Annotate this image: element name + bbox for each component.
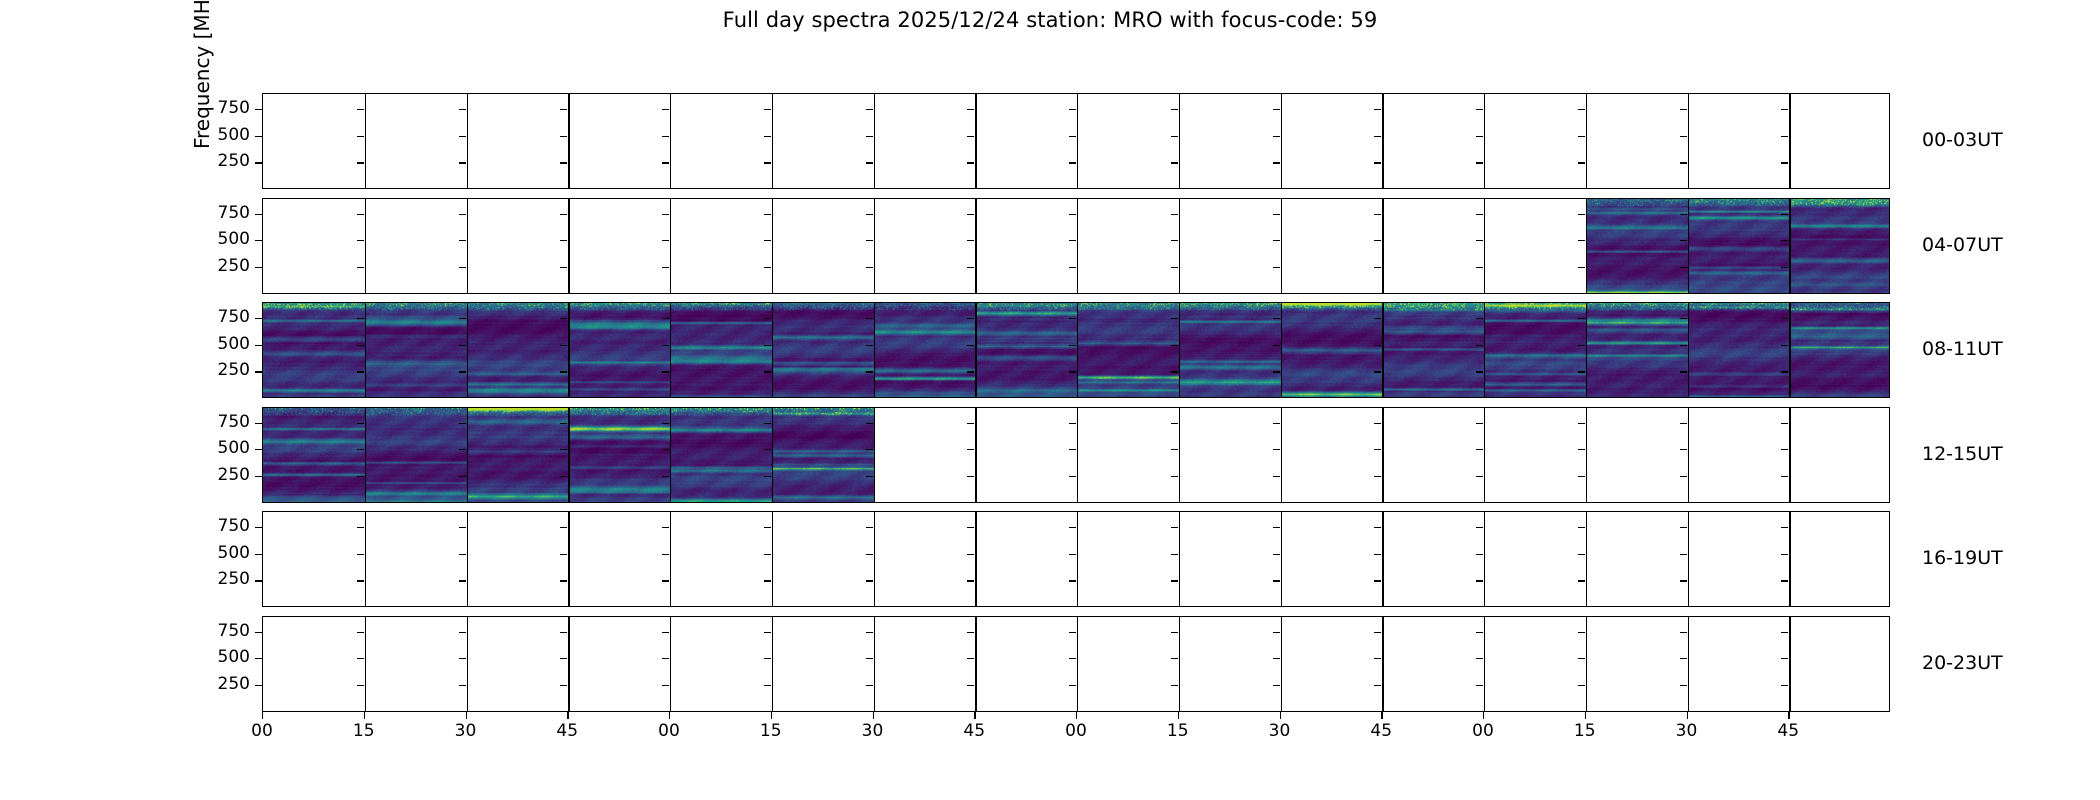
spectrogram-panel[interactable]: [670, 303, 772, 397]
spectrogram-panel[interactable]: [1281, 408, 1383, 502]
y-tick-mark-inner: [662, 345, 669, 346]
y-tick-mark-inner: [1476, 476, 1483, 477]
y-tick-mark-inner: [1069, 632, 1076, 633]
x-tick-mark: [1178, 712, 1179, 719]
spectrogram-panel[interactable]: [772, 199, 874, 293]
panel-divider: [1382, 199, 1383, 293]
y-tick-mark-inner: [1273, 109, 1280, 110]
spectrogram-panel[interactable]: [975, 512, 1077, 606]
y-tick-mark-inner: [1680, 685, 1687, 686]
spectrogram-data-tile: [263, 303, 365, 397]
panel-divider: [1586, 199, 1587, 293]
spectrogram-panel[interactable]: [975, 408, 1077, 502]
spectrogram-panel[interactable]: [467, 408, 569, 502]
y-tick-mark-inner: [866, 267, 873, 268]
y-tick-mark-inner: [1476, 240, 1483, 241]
y-tick-mark-inner: [560, 240, 567, 241]
y-tick-mark-inner: [764, 318, 771, 319]
y-tick-mark-inner: [662, 162, 669, 163]
panel-divider: [1382, 617, 1383, 711]
panel-divider: [365, 512, 366, 606]
y-tick-mark-inner: [866, 632, 873, 633]
x-tick-mark: [364, 712, 365, 719]
panel-divider: [1789, 617, 1790, 711]
spectrogram-data-tile: [1789, 199, 1890, 293]
spectrogram-row-20-23ut[interactable]: [262, 616, 1890, 712]
y-tick-mark: [255, 449, 262, 450]
spectrogram-panel[interactable]: [568, 512, 670, 606]
spectrogram-panel[interactable]: [467, 617, 569, 711]
spectrogram-panel[interactable]: [365, 512, 467, 606]
y-tick-label: 500: [170, 229, 250, 249]
x-tick-mark: [466, 712, 467, 719]
spectrogram-row-16-19ut[interactable]: [262, 511, 1890, 607]
y-tick-mark-inner: [1273, 527, 1280, 528]
spectrogram-panel[interactable]: [1179, 617, 1281, 711]
y-tick-mark-inner: [1273, 267, 1280, 268]
panel-divider: [467, 408, 468, 502]
panel-divider: [1586, 617, 1587, 711]
spectrogram-panel[interactable]: [263, 303, 365, 397]
y-tick-mark-inner: [1171, 580, 1178, 581]
panel-divider: [975, 512, 976, 606]
panel-divider: [670, 199, 671, 293]
spectrogram-panel[interactable]: [568, 199, 670, 293]
spectrogram-panel[interactable]: [874, 303, 976, 397]
spectrogram-panel[interactable]: [1688, 617, 1790, 711]
y-tick-mark-inner: [357, 136, 364, 137]
spectrogram-panel[interactable]: [1179, 94, 1281, 188]
spectrogram-panel[interactable]: [874, 408, 976, 502]
y-tick-mark: [255, 267, 262, 268]
spectrogram-data-tile: [568, 408, 670, 502]
y-tick-mark-inner: [1680, 240, 1687, 241]
row-label-00-03ut: 00-03UT: [1922, 129, 2003, 151]
y-tick-mark-inner: [1374, 658, 1381, 659]
x-tick-label: 00: [251, 721, 273, 741]
spectrogram-panel[interactable]: [874, 199, 976, 293]
spectrogram-row-08-11ut[interactable]: [262, 302, 1890, 398]
y-tick-mark-inner: [662, 214, 669, 215]
spectrogram-panel[interactable]: [975, 94, 1077, 188]
y-tick-mark-inner: [1476, 267, 1483, 268]
spectrogram-panel[interactable]: [1586, 617, 1688, 711]
spectrogram-panel[interactable]: [568, 303, 670, 397]
spectrogram-panel[interactable]: [1382, 617, 1484, 711]
y-tick-mark: [255, 240, 262, 241]
panel-divider: [568, 408, 569, 502]
panel-divider: [1077, 94, 1078, 188]
panel-divider: [975, 199, 976, 293]
spectrogram-panel[interactable]: [1789, 303, 1890, 397]
x-tick-label: 15: [1167, 721, 1189, 741]
x-tick-mark: [567, 712, 568, 719]
y-tick-mark-inner: [560, 136, 567, 137]
spectrogram-panel[interactable]: [467, 303, 569, 397]
spectrogram-panel[interactable]: [1484, 512, 1586, 606]
y-tick-mark-inner: [1374, 554, 1381, 555]
y-tick-mark-inner: [1476, 345, 1483, 346]
y-tick-mark-inner: [866, 240, 873, 241]
spectrogram-data-tile: [365, 408, 467, 502]
y-tick-label: 500: [170, 438, 250, 458]
spectrogram-panel[interactable]: [263, 94, 365, 188]
spectrogram-panel[interactable]: [670, 94, 772, 188]
panel-divider: [670, 617, 671, 711]
spectrogram-panel[interactable]: [1382, 512, 1484, 606]
spectrogram-panel[interactable]: [1281, 199, 1383, 293]
row-label-04-07ut: 04-07UT: [1922, 234, 2003, 256]
y-tick-mark-inner: [459, 267, 466, 268]
y-tick-mark: [255, 136, 262, 137]
y-tick-mark-inner: [1171, 449, 1178, 450]
y-tick-mark-inner: [1171, 267, 1178, 268]
y-tick-mark-inner: [1781, 214, 1788, 215]
y-tick-mark-inner: [560, 554, 567, 555]
spectrogram-panel[interactable]: [1281, 94, 1383, 188]
y-tick-mark-inner: [357, 658, 364, 659]
panel-divider: [772, 512, 773, 606]
x-tick-label: 30: [1269, 721, 1291, 741]
spectrogram-panel[interactable]: [1077, 94, 1179, 188]
x-tick-mark: [1788, 712, 1789, 719]
y-tick-mark-inner: [1680, 580, 1687, 581]
spectrogram-panel[interactable]: [1586, 303, 1688, 397]
y-tick-mark-inner: [357, 449, 364, 450]
y-tick-mark-inner: [1578, 449, 1585, 450]
y-tick-mark-inner: [967, 580, 974, 581]
y-tick-mark-inner: [662, 685, 669, 686]
y-tick-mark-inner: [967, 109, 974, 110]
y-tick-mark-inner: [357, 109, 364, 110]
spectrogram-panel[interactable]: [1586, 199, 1688, 293]
spectrogram-panel[interactable]: [365, 617, 467, 711]
spectrogram-panel[interactable]: [1688, 199, 1790, 293]
spectrogram-panel[interactable]: [1179, 512, 1281, 606]
panel-divider: [1688, 94, 1689, 188]
panel-strip: [263, 617, 1889, 711]
spectrogram-panel[interactable]: [263, 199, 365, 293]
y-tick-mark-inner: [764, 685, 771, 686]
y-tick-mark-inner: [662, 240, 669, 241]
spectrogram-panel[interactable]: [1077, 199, 1179, 293]
y-tick-mark-inner: [1781, 371, 1788, 372]
spectrogram-panel[interactable]: [568, 94, 670, 188]
spectrogram-panel[interactable]: [772, 617, 874, 711]
y-tick-mark-inner: [459, 527, 466, 528]
x-tick-mark: [873, 712, 874, 719]
y-tick-mark-inner: [764, 632, 771, 633]
spectrogram-panel[interactable]: [1484, 408, 1586, 502]
spectrogram-panel[interactable]: [263, 512, 365, 606]
panel-divider: [568, 199, 569, 293]
spectrogram-panel[interactable]: [874, 512, 976, 606]
spectrogram-panel[interactable]: [874, 94, 976, 188]
y-tick-mark-inner: [1781, 658, 1788, 659]
panel-divider: [1688, 512, 1689, 606]
y-tick-mark-inner: [1273, 685, 1280, 686]
y-tick-mark-inner: [1781, 423, 1788, 424]
y-tick-mark-inner: [459, 449, 466, 450]
spectrogram-data-tile: [874, 303, 976, 397]
spectrogram-panel[interactable]: [975, 199, 1077, 293]
y-tick-label: 750: [170, 203, 250, 223]
y-tick-mark-inner: [1069, 109, 1076, 110]
spectrogram-panel[interactable]: [1484, 617, 1586, 711]
y-tick-mark-inner: [866, 580, 873, 581]
spectrogram-panel[interactable]: [1789, 199, 1890, 293]
panel-divider: [1077, 408, 1078, 502]
y-tick-mark: [255, 423, 262, 424]
spectrogram-panel[interactable]: [1688, 512, 1790, 606]
y-tick-mark-inner: [560, 449, 567, 450]
spectrogram-panel[interactable]: [263, 617, 365, 711]
y-tick-mark-inner: [1476, 658, 1483, 659]
row-label-16-19ut: 16-19UT: [1922, 547, 2003, 569]
y-tick-label: 500: [170, 647, 250, 667]
spectrogram-panel[interactable]: [670, 199, 772, 293]
x-tick-mark: [1381, 712, 1382, 719]
spectrogram-panel[interactable]: [1382, 408, 1484, 502]
y-tick-mark-inner: [1680, 214, 1687, 215]
y-tick-mark-inner: [459, 554, 466, 555]
spectrogram-panel[interactable]: [365, 303, 467, 397]
y-tick-mark-inner: [1171, 658, 1178, 659]
y-tick-mark-inner: [1069, 658, 1076, 659]
x-tick-mark: [1687, 712, 1688, 719]
spectrogram-panel[interactable]: [1077, 617, 1179, 711]
panel-divider: [1586, 94, 1587, 188]
y-tick-mark-inner: [459, 109, 466, 110]
y-tick-mark-inner: [866, 685, 873, 686]
spectrogram-panel[interactable]: [1281, 512, 1383, 606]
y-tick-mark-inner: [1680, 423, 1687, 424]
spectrogram-data-tile: [1382, 303, 1484, 397]
y-tick-mark-inner: [459, 136, 466, 137]
panel-divider: [670, 512, 671, 606]
spectrogram-panel[interactable]: [1484, 199, 1586, 293]
panel-divider: [1586, 512, 1587, 606]
y-tick-mark-inner: [459, 685, 466, 686]
x-tick-label: 00: [658, 721, 680, 741]
y-tick-mark-inner: [1171, 423, 1178, 424]
y-tick-mark-inner: [866, 136, 873, 137]
y-tick-label: 250: [170, 674, 250, 694]
y-tick-mark: [255, 345, 262, 346]
y-tick-mark-inner: [1273, 449, 1280, 450]
y-tick-mark-inner: [1476, 371, 1483, 372]
panel-divider: [568, 617, 569, 711]
spectrogram-panel[interactable]: [772, 303, 874, 397]
y-tick-mark-inner: [866, 527, 873, 528]
panel-divider: [1077, 512, 1078, 606]
spectrogram-panel[interactable]: [1382, 94, 1484, 188]
x-tick-label: 15: [353, 721, 375, 741]
y-tick-mark-inner: [1374, 449, 1381, 450]
y-tick-mark-inner: [1069, 214, 1076, 215]
panel-divider: [1077, 617, 1078, 711]
y-tick-mark-inner: [1069, 476, 1076, 477]
spectrogram-panel[interactable]: [1179, 303, 1281, 397]
panel-divider: [975, 617, 976, 711]
y-tick-mark-inner: [967, 449, 974, 450]
x-tick-mark: [771, 712, 772, 719]
spectrogram-panel[interactable]: [467, 199, 569, 293]
spectrogram-panel[interactable]: [772, 512, 874, 606]
panel-divider: [1789, 408, 1790, 502]
spectrogram-panel[interactable]: [670, 512, 772, 606]
spectrogram-panel[interactable]: [365, 94, 467, 188]
spectrogram-panel[interactable]: [975, 303, 1077, 397]
x-tick-label: 15: [1574, 721, 1596, 741]
y-tick-mark-inner: [866, 476, 873, 477]
y-tick-mark-inner: [1781, 136, 1788, 137]
spectrogram-panel[interactable]: [1077, 303, 1179, 397]
y-tick-mark-inner: [764, 658, 771, 659]
spectrogram-panel[interactable]: [670, 617, 772, 711]
spectrogram-panel[interactable]: [670, 408, 772, 502]
y-tick-mark-inner: [1171, 109, 1178, 110]
spectrogram-panel[interactable]: [467, 94, 569, 188]
y-tick-mark-inner: [662, 109, 669, 110]
y-tick-mark-inner: [1069, 267, 1076, 268]
spectrogram-panel[interactable]: [1789, 617, 1890, 711]
y-tick-mark-inner: [1578, 267, 1585, 268]
spectrogram-panel[interactable]: [1077, 512, 1179, 606]
y-tick-mark: [255, 658, 262, 659]
y-tick-mark-inner: [1781, 318, 1788, 319]
spectrogram-panel[interactable]: [1688, 94, 1790, 188]
y-tick-mark-inner: [1781, 162, 1788, 163]
y-tick-mark-inner: [764, 162, 771, 163]
spectrogram-panel[interactable]: [1688, 303, 1790, 397]
spectrogram-panel[interactable]: [1789, 94, 1890, 188]
y-tick-mark-inner: [1578, 580, 1585, 581]
spectrogram-panel[interactable]: [1688, 408, 1790, 502]
y-tick-mark-inner: [764, 527, 771, 528]
panel-strip: [263, 199, 1889, 293]
panel-divider: [1179, 94, 1180, 188]
y-tick-mark-inner: [1578, 214, 1585, 215]
panel-divider: [1179, 408, 1180, 502]
y-tick-mark-inner: [357, 527, 364, 528]
panel-divider: [670, 94, 671, 188]
y-tick-mark-inner: [662, 554, 669, 555]
y-tick-mark-inner: [967, 658, 974, 659]
spectrogram-panel[interactable]: [365, 408, 467, 502]
panel-divider: [1281, 94, 1282, 188]
spectrogram-panel[interactable]: [1382, 199, 1484, 293]
spectrogram-row-12-15ut[interactable]: [262, 407, 1890, 503]
spectrogram-panel[interactable]: [1789, 512, 1890, 606]
y-tick-mark-inner: [1680, 554, 1687, 555]
spectrogram-panel[interactable]: [1179, 408, 1281, 502]
y-tick-mark-inner: [1578, 162, 1585, 163]
y-tick-mark-inner: [1476, 318, 1483, 319]
spectrogram-panel[interactable]: [568, 617, 670, 711]
spectrogram-row-00-03ut[interactable]: [262, 93, 1890, 189]
spectrogram-panel[interactable]: [1281, 617, 1383, 711]
spectrogram-panel[interactable]: [1382, 303, 1484, 397]
spectrogram-panel[interactable]: [874, 617, 976, 711]
panel-divider: [1688, 617, 1689, 711]
y-tick-mark-inner: [764, 371, 771, 372]
y-tick-label: 750: [170, 98, 250, 118]
y-tick-mark-inner: [1273, 345, 1280, 346]
y-tick-mark-inner: [1069, 371, 1076, 372]
y-tick-mark-inner: [967, 632, 974, 633]
spectrogram-data-tile: [975, 303, 1077, 397]
panel-divider: [1077, 199, 1078, 293]
spectrogram-panel[interactable]: [467, 512, 569, 606]
y-tick-mark-inner: [1781, 476, 1788, 477]
panel-strip: [263, 408, 1889, 502]
spectrogram-panel[interactable]: [1789, 408, 1890, 502]
y-tick-mark-inner: [1578, 109, 1585, 110]
spectrogram-panel[interactable]: [1484, 94, 1586, 188]
y-tick-mark-inner: [1171, 371, 1178, 372]
y-tick-mark-inner: [459, 476, 466, 477]
panel-divider: [772, 199, 773, 293]
spectrogram-panel[interactable]: [1281, 303, 1383, 397]
spectrogram-panel[interactable]: [772, 94, 874, 188]
y-tick-mark-inner: [662, 658, 669, 659]
spectrogram-panel[interactable]: [772, 408, 874, 502]
y-tick-mark-inner: [662, 449, 669, 450]
y-tick-mark-inner: [1680, 318, 1687, 319]
y-tick-mark-inner: [1476, 109, 1483, 110]
y-tick-mark-inner: [1578, 476, 1585, 477]
spectrogram-panel[interactable]: [1179, 199, 1281, 293]
panel-divider: [1484, 408, 1485, 502]
y-tick-mark-inner: [357, 476, 364, 477]
spectrogram-panel[interactable]: [975, 617, 1077, 711]
y-tick-label: 250: [170, 569, 250, 589]
y-tick-mark-inner: [1374, 423, 1381, 424]
spectrogram-row-04-07ut[interactable]: [262, 198, 1890, 294]
panel-divider: [1281, 199, 1282, 293]
y-tick-mark-inner: [1374, 240, 1381, 241]
spectrogram-panel[interactable]: [365, 199, 467, 293]
y-tick-mark-inner: [1171, 240, 1178, 241]
spectrogram-panel[interactable]: [1586, 408, 1688, 502]
y-tick-mark-inner: [1476, 527, 1483, 528]
y-tick-mark-inner: [1069, 240, 1076, 241]
spectrogram-panel[interactable]: [568, 408, 670, 502]
panel-divider: [874, 303, 875, 397]
spectrogram-panel[interactable]: [1586, 94, 1688, 188]
panel-divider: [1281, 408, 1282, 502]
x-tick-mark: [1585, 712, 1586, 719]
spectrogram-data-tile: [670, 408, 772, 502]
y-tick-mark-inner: [1069, 580, 1076, 581]
panel-divider: [365, 303, 366, 397]
y-tick-mark-inner: [764, 345, 771, 346]
y-tick-mark-inner: [1476, 214, 1483, 215]
spectrogram-panel[interactable]: [1484, 303, 1586, 397]
y-tick-mark-inner: [459, 371, 466, 372]
x-tick-label: 45: [1777, 721, 1799, 741]
panel-divider: [1688, 408, 1689, 502]
spectrogram-panel[interactable]: [263, 408, 365, 502]
spectrogram-panel[interactable]: [1077, 408, 1179, 502]
y-tick-mark-inner: [560, 476, 567, 477]
y-tick-mark-inner: [560, 109, 567, 110]
panel-divider: [874, 199, 875, 293]
x-tick-mark: [974, 712, 975, 719]
y-tick-mark-inner: [967, 554, 974, 555]
spectrogram-panel[interactable]: [1586, 512, 1688, 606]
